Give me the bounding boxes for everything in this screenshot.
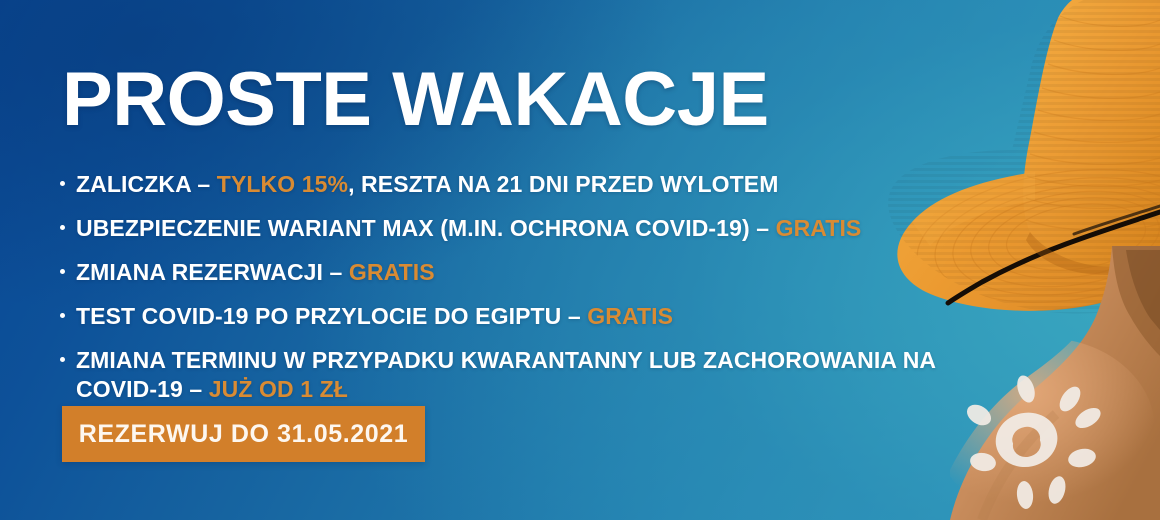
- bullet-highlight: JUŻ OD 1 ZŁ: [209, 376, 348, 402]
- bullet-highlight: TYLKO 15%: [217, 171, 348, 197]
- bullet-text-pre: ZALICZKA –: [76, 171, 217, 197]
- bullet-text-pre: ZMIANA TERMINU W PRZYPADKU KWARANTANNY L…: [76, 347, 935, 403]
- list-item: TEST COVID-19 PO PRZYLOCIE DO EGIPTU – G…: [58, 302, 938, 332]
- banner-content: PROSTE WAKACJE ZALICZKA – TYLKO 15%, RES…: [62, 0, 942, 520]
- bullet-dot-icon: [60, 269, 65, 274]
- bullet-dot-icon: [60, 225, 65, 230]
- bullet-text-pre: TEST COVID-19 PO PRZYLOCIE DO EGIPTU –: [76, 303, 587, 329]
- list-item: ZALICZKA – TYLKO 15%, RESZTA NA 21 DNI P…: [58, 170, 938, 200]
- list-item: ZMIANA REZERWACJI – GRATIS: [58, 258, 938, 288]
- bullet-text-pre: ZMIANA REZERWACJI –: [76, 259, 349, 285]
- bullet-text-pre: UBEZPIECZENIE WARIANT MAX (M.IN. OCHRONA…: [76, 215, 776, 241]
- bullet-dot-icon: [60, 357, 65, 362]
- bullet-highlight: GRATIS: [587, 303, 673, 329]
- benefits-list: ZALICZKA – TYLKO 15%, RESZTA NA 21 DNI P…: [58, 170, 938, 405]
- promo-banner: PROSTE WAKACJE ZALICZKA – TYLKO 15%, RES…: [0, 0, 1160, 520]
- list-item: ZMIANA TERMINU W PRZYPADKU KWARANTANNY L…: [58, 346, 938, 406]
- bullet-dot-icon: [60, 181, 65, 186]
- bullet-dot-icon: [60, 313, 65, 318]
- bullet-highlight: GRATIS: [776, 215, 862, 241]
- reserve-button[interactable]: REZERWUJ DO 31.05.2021: [62, 406, 425, 462]
- page-title: PROSTE WAKACJE: [62, 62, 769, 138]
- bullet-highlight: GRATIS: [349, 259, 435, 285]
- reserve-button-label: REZERWUJ DO 31.05.2021: [79, 420, 409, 449]
- list-item: UBEZPIECZENIE WARIANT MAX (M.IN. OCHRONA…: [58, 214, 938, 244]
- bullet-text-post: , RESZTA NA 21 DNI PRZED WYLOTEM: [348, 171, 778, 197]
